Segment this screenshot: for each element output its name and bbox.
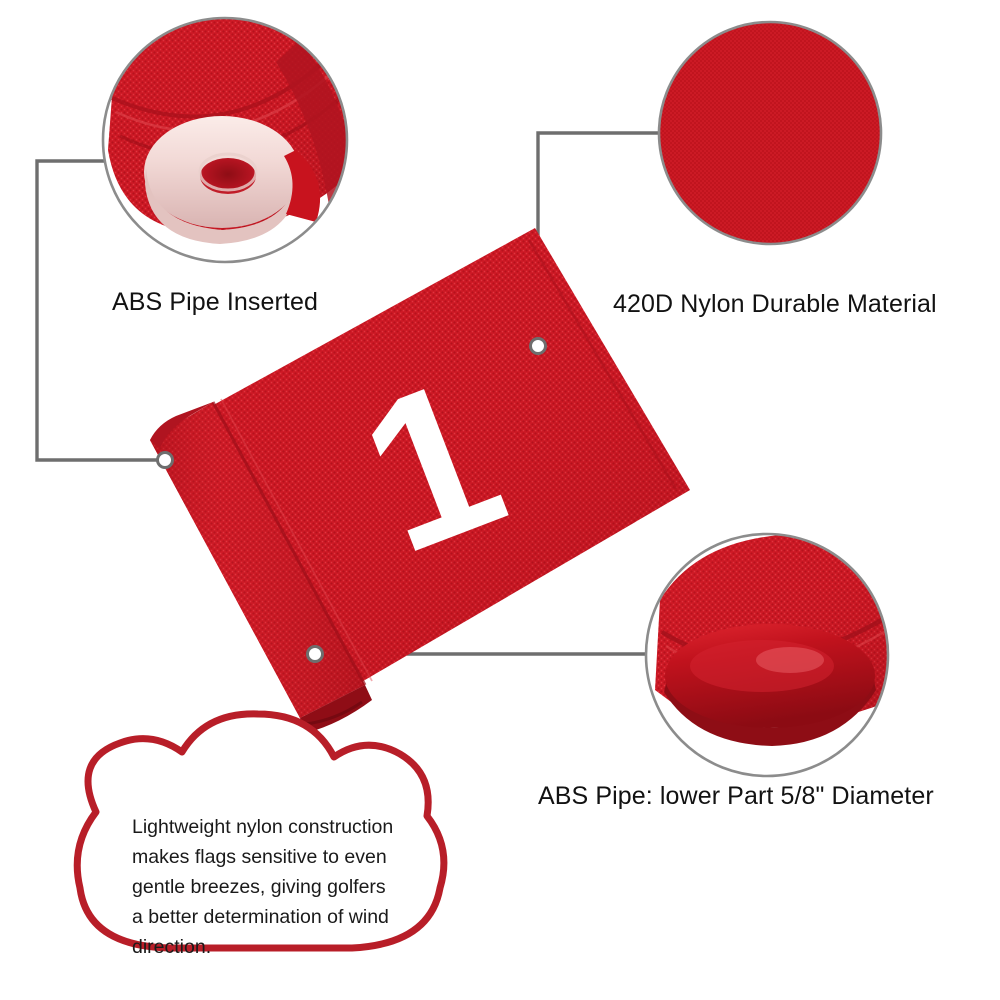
- cloud-text-line: makes flags sensitive to even: [132, 842, 402, 872]
- infographic-canvas: 1 ABS Pipe Inserted 420D Nylon Durable M…: [0, 0, 1000, 1000]
- callout-label-nylon-material: 420D Nylon Durable Material: [613, 290, 937, 319]
- cloud-callout-text: Lightweight nylon construction makes fla…: [132, 812, 402, 962]
- cloud-text-line: gentle breezes, giving golfers: [132, 872, 402, 902]
- cloud-text-line: Lightweight nylon construction: [132, 812, 402, 842]
- detail-circle-abs-pipe-inserted: [103, 0, 372, 262]
- detail-circle-nylon-material: [650, 10, 895, 260]
- cloud-text-line: direction.: [132, 932, 402, 962]
- callout-label-abs-lower-part: ABS Pipe: lower Part 5/8" Diameter: [538, 782, 934, 811]
- dot-nylon-material: [531, 339, 546, 354]
- cloud-text-line: a better determination of wind: [132, 902, 402, 932]
- dot-abs-pipe-inserted: [158, 453, 173, 468]
- detail-circle-abs-lower-part: [646, 534, 894, 776]
- dot-abs-lower-part: [308, 647, 323, 662]
- callout-label-abs-pipe-inserted: ABS Pipe Inserted: [112, 288, 318, 317]
